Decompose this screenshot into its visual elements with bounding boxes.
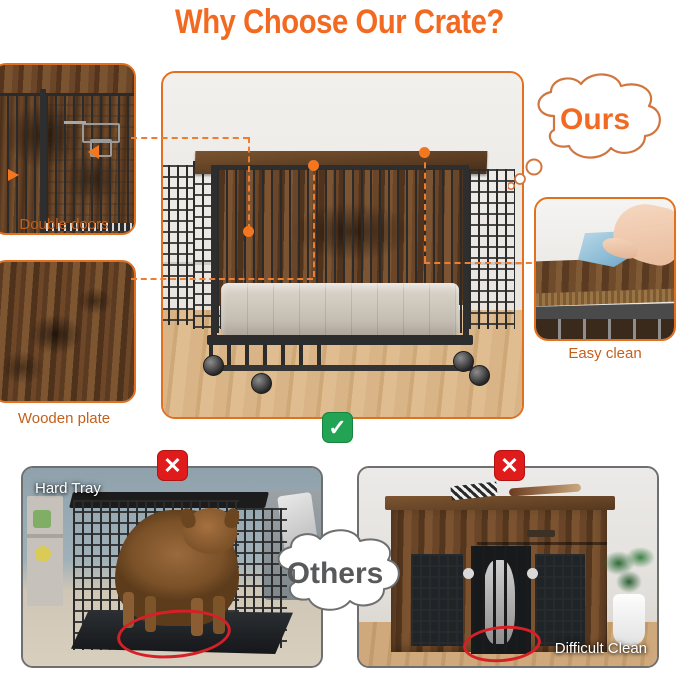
shelf-divider — [27, 534, 63, 538]
caster-front-right — [469, 365, 490, 386]
drawer-handle — [527, 530, 555, 537]
rejected-badge-left: ✕ — [157, 450, 188, 481]
bubble-others-label: Others — [262, 528, 408, 624]
cross-icon: ✕ — [163, 455, 181, 477]
feature-caption-wooden-plate: Wooden plate — [0, 410, 136, 427]
connector-wooden-plate — [131, 278, 313, 280]
connector-easy-clean-rise — [424, 152, 426, 262]
crate-top-board — [0, 65, 134, 96]
feature-panel-wooden-plate[interactable] — [0, 260, 136, 403]
door-latch-rod-icon — [64, 121, 86, 124]
caster-front-left — [203, 355, 224, 376]
drawer-seam — [477, 542, 607, 545]
crate-base-rail — [207, 335, 473, 345]
shelf-flowers — [35, 546, 51, 562]
left-door-window-cross — [411, 554, 463, 646]
feature-panel-easy-clean[interactable] — [534, 197, 676, 341]
plant-leaves — [603, 540, 655, 598]
main-product-panel[interactable] — [161, 71, 524, 419]
infographic-root: Why Choose Our Crate? Double doors Woode… — [0, 0, 679, 675]
arrow-left-icon — [88, 145, 99, 159]
connector-dot-easy-clean — [419, 147, 430, 158]
bubble-ours-label: Ours — [521, 72, 669, 172]
approved-badge: ✓ — [322, 412, 353, 443]
comparison-label-difficult-clean: Difficult Clean — [555, 640, 647, 657]
feature-caption-easy-clean: Easy clean — [534, 345, 676, 362]
left-open-door-wires — [161, 165, 195, 325]
cross-icon: ✕ — [500, 455, 518, 477]
connector-easy-clean — [424, 262, 542, 264]
shelf-plant — [33, 510, 51, 528]
arrow-right-icon — [8, 169, 19, 181]
connector-double-doors-drop — [248, 137, 250, 230]
comparison-label-hard-tray: Hard Tray — [35, 480, 101, 497]
latch-left-icon — [463, 568, 474, 579]
bubble-ours: Ours — [521, 72, 669, 168]
crate-cushion — [221, 283, 459, 337]
bubble-ours-tail-icon — [508, 158, 552, 192]
page-title: Why Choose Our Crate? — [48, 2, 632, 42]
rejected-badge-right: ✕ — [494, 450, 525, 481]
door-cross-wires — [46, 93, 136, 233]
check-icon: ✓ — [328, 417, 346, 439]
crate-bottom-rail — [207, 365, 473, 371]
connector-dot-double-doors — [243, 226, 254, 237]
crate-bars-below — [536, 319, 674, 339]
right-open-door-wires — [469, 169, 515, 329]
feature-caption-double-doors: Double doors — [0, 216, 136, 233]
connector-dot-top-board — [308, 160, 319, 171]
caster-center-left — [251, 373, 272, 394]
latch-right-icon — [527, 568, 538, 579]
feature-panel-double-doors[interactable] — [0, 63, 136, 235]
wooden-plate-photo — [0, 262, 134, 401]
connector-top-board-drop — [313, 165, 315, 277]
door-bars-left — [0, 93, 40, 233]
connector-double-doors — [131, 137, 249, 139]
right-door-window-cross — [535, 554, 585, 646]
bubble-others: Others — [262, 528, 408, 620]
plant-pot — [613, 594, 645, 646]
cabinet-top — [385, 496, 615, 510]
